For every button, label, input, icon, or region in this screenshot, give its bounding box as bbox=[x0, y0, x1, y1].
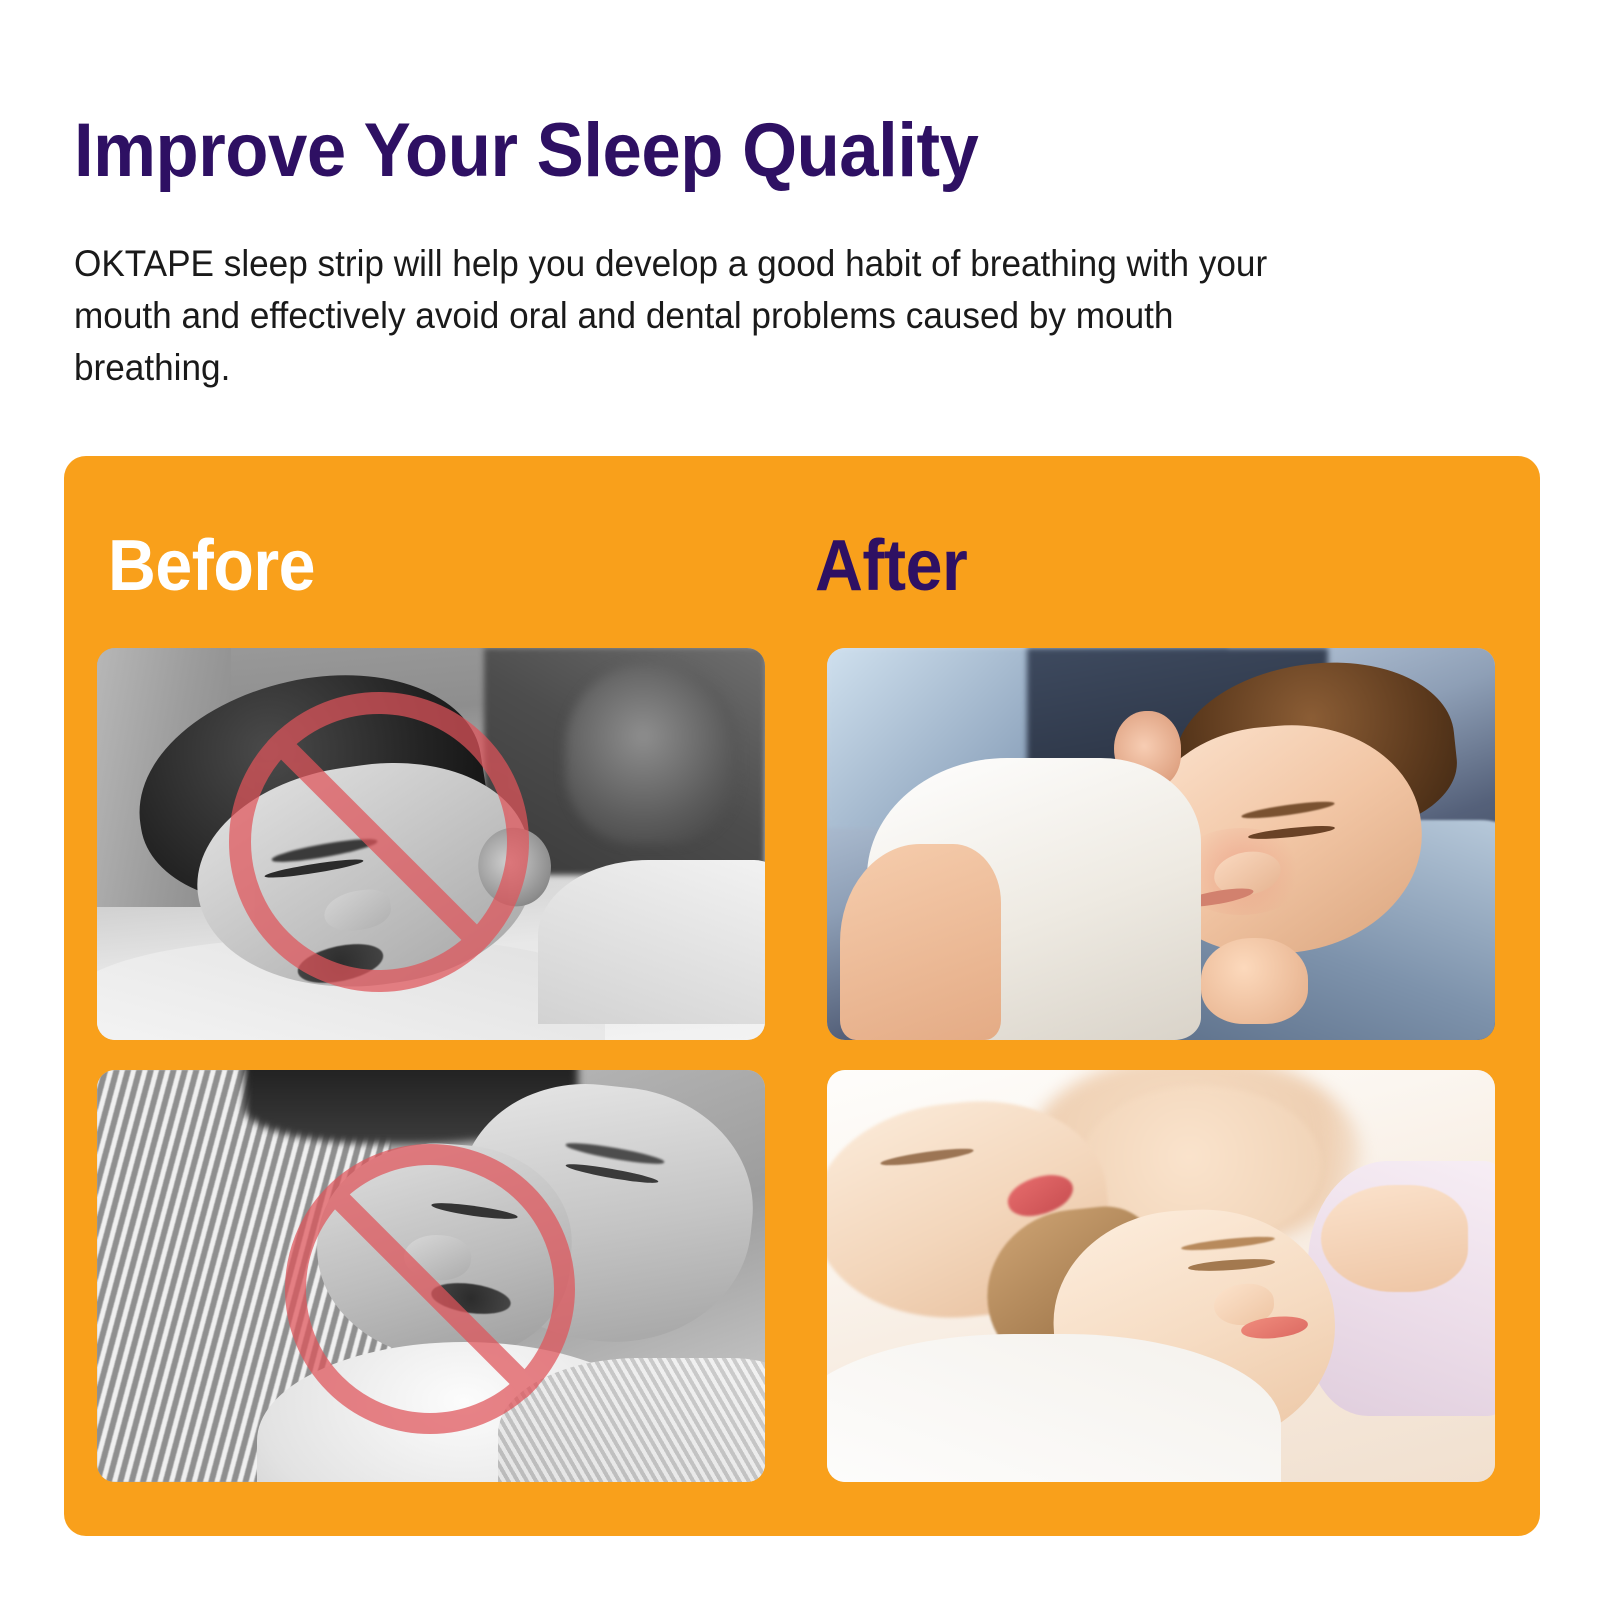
product-description: OKTAPE sleep strip will help you develop… bbox=[74, 238, 1328, 394]
after-column-label: After bbox=[815, 530, 967, 602]
product-feature-page: Improve Your Sleep Quality OKTAPE sleep … bbox=[0, 0, 1600, 1600]
after-photo-mother-and-child bbox=[827, 1070, 1495, 1482]
before-photo-pair-mouth-open bbox=[97, 1070, 765, 1482]
photo-scene bbox=[97, 648, 765, 1040]
comparison-photo-grid bbox=[97, 648, 1495, 1482]
photo-scene bbox=[827, 1070, 1495, 1482]
before-photo-boy-mouth-open bbox=[97, 648, 765, 1040]
page-title: Improve Your Sleep Quality bbox=[74, 104, 978, 198]
after-photo-boy-sleeping bbox=[827, 648, 1495, 1040]
photo-scene bbox=[827, 648, 1495, 1040]
photo-scene bbox=[97, 1070, 765, 1482]
before-after-panel: Before After bbox=[64, 456, 1540, 1536]
before-column-label: Before bbox=[108, 530, 315, 602]
